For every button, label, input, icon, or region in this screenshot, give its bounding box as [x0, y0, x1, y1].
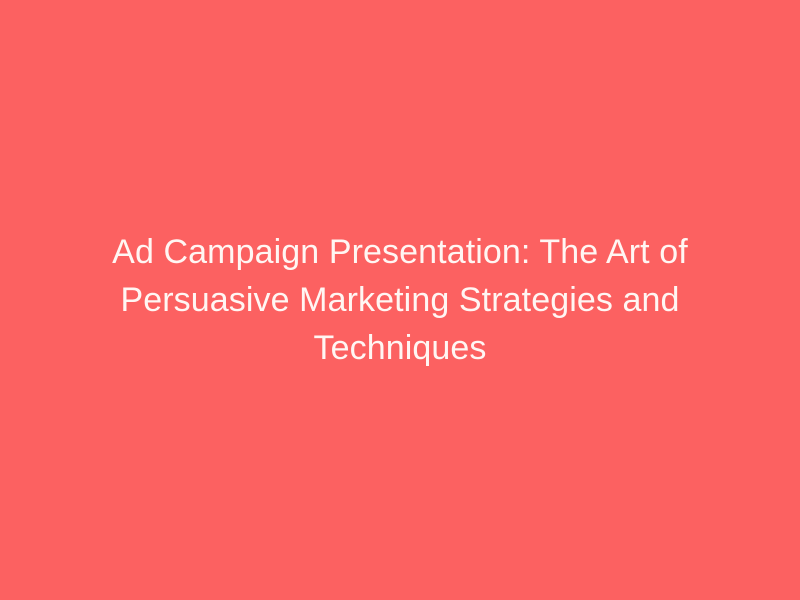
- title-block: Ad Campaign Presentation: The Art of Per…: [0, 228, 800, 372]
- slide-canvas: Ad Campaign Presentation: The Art of Per…: [0, 0, 800, 600]
- slide-title: Ad Campaign Presentation: The Art of Per…: [100, 228, 700, 372]
